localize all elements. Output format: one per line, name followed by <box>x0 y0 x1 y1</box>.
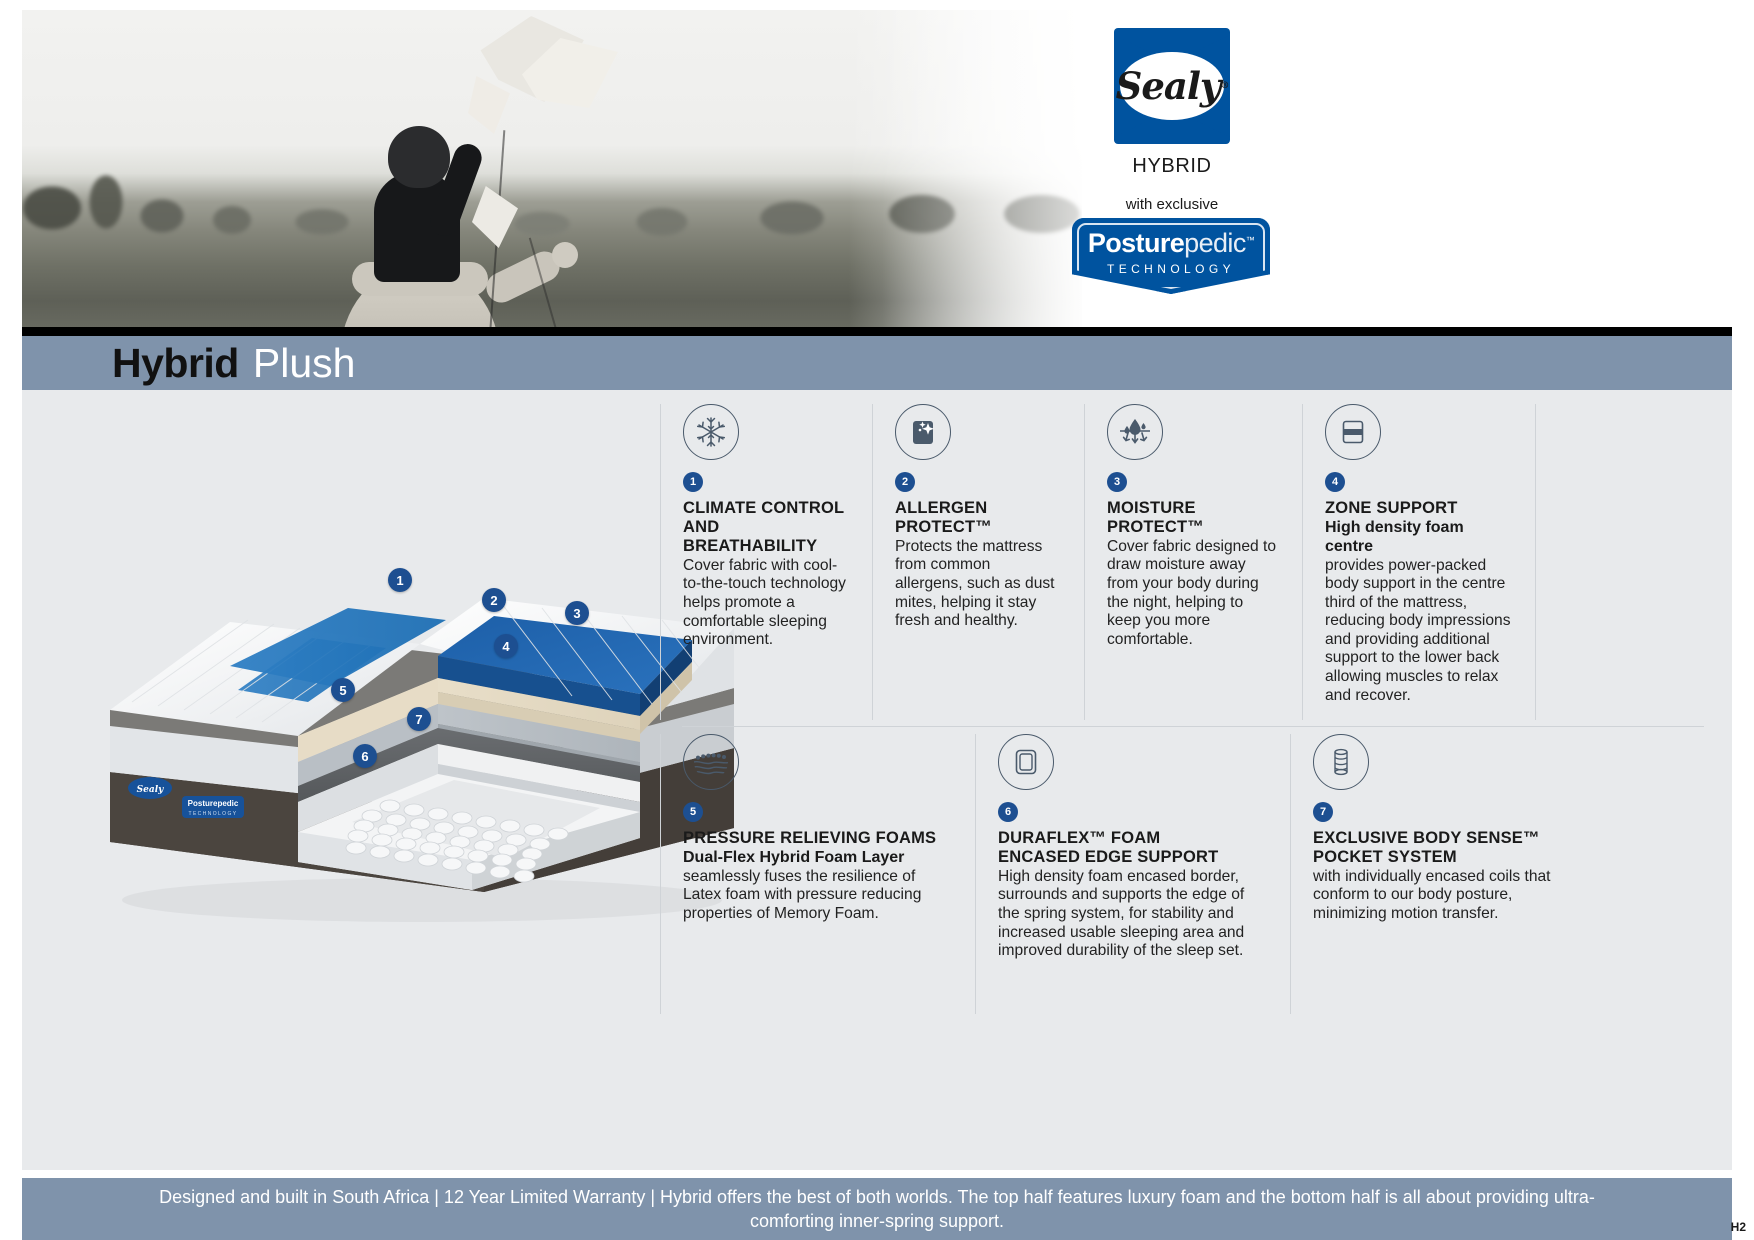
product-spec-sheet: Sealy® HYBRID with exclusive Posturepedi… <box>0 0 1754 1240</box>
feature-body-6: High density foam encased border, surrou… <box>998 868 1268 961</box>
mattress-callout-6[interactable]: 6 <box>353 744 377 768</box>
feature-row-1: 1 CLIMATE CONTROL AND BREATHABILITY Cove… <box>660 404 1536 720</box>
mattress-illustration: Sealy Posturepedic TECHNOLOGY 1 2 3 4 5 … <box>102 570 742 930</box>
feature-card-pocket-system[interactable]: 7 EXCLUSIVE BODY SENSE™ POCKET SYSTEM wi… <box>1290 734 1580 1014</box>
feature-number-7: 7 <box>1313 802 1333 822</box>
feature-title-1: CLIMATE CONTROL AND BREATHABILITY <box>683 499 850 556</box>
feature-number-1: 1 <box>683 472 703 492</box>
product-title-bar: Hybrid Plush <box>22 336 1732 390</box>
feature-body-4: provides power-packed body support in th… <box>1325 557 1513 705</box>
sealy-logo-wordmark: Sealy® <box>1114 52 1230 120</box>
feature-number-6: 6 <box>998 802 1018 822</box>
page-code: H2 <box>1731 1220 1746 1234</box>
feature-number-2: 2 <box>895 472 915 492</box>
page-title: Hybrid <box>112 340 239 387</box>
moisture-droplet-icon <box>1107 404 1163 460</box>
feature-card-duraflex-edge-support[interactable]: 6 DURAFLEX™ FOAM ENCASED EDGE SUPPORT Hi… <box>975 734 1290 1014</box>
feature-subtitle-4: High density foam centre <box>1325 519 1513 557</box>
page-subtitle: Plush <box>253 340 356 387</box>
posturepedic-technology-label: TECHNOLOGY <box>1072 262 1270 276</box>
feature-card-zone-support[interactable]: 4 ZONE SUPPORT High density foam centre … <box>1302 404 1536 720</box>
posturepedic-wordmark: Posturepedic™ <box>1072 230 1270 257</box>
feature-title-6: DURAFLEX™ FOAM ENCASED EDGE SUPPORT <box>998 829 1268 867</box>
feature-body-1: Cover fabric with cool-to-the-touch tech… <box>683 557 850 650</box>
feature-number-4: 4 <box>1325 472 1345 492</box>
footer-banner: Designed and built in South Africa | 12 … <box>22 1178 1732 1240</box>
mattress-callout-1[interactable]: 1 <box>388 568 412 592</box>
kite-icon-mid <box>468 76 510 134</box>
feature-card-moisture-protect[interactable]: 3 MOISTURE PROTECT™ Cover fabric designe… <box>1084 404 1302 720</box>
posturepedic-light-text: pedic <box>1184 228 1246 258</box>
svg-text:TECHNOLOGY: TECHNOLOGY <box>188 811 237 817</box>
feature-body-3: Cover fabric designed to draw moisture a… <box>1107 538 1280 649</box>
mattress-callout-2[interactable]: 2 <box>482 588 506 612</box>
mattress-sealy-badge: Sealy <box>128 777 172 799</box>
sealy-logo-text: Sealy <box>1116 64 1221 108</box>
feature-number-3: 3 <box>1107 472 1127 492</box>
allergen-shield-icon <box>895 404 951 460</box>
hero-banner <box>22 10 1732 365</box>
feature-body-2: Protects the mattress from common allerg… <box>895 538 1062 631</box>
feature-grid: 1 CLIMATE CONTROL AND BREATHABILITY Cove… <box>660 404 1718 1134</box>
mattress-callout-4[interactable]: 4 <box>494 634 518 658</box>
brand-sub-label: HYBRID <box>1114 155 1230 178</box>
feature-number-5: 5 <box>683 802 703 822</box>
feature-title-7: EXCLUSIVE BODY SENSE™ POCKET SYSTEM <box>1313 829 1558 867</box>
svg-text:Posturepedic: Posturepedic <box>188 799 239 808</box>
figure-child-head <box>388 126 450 188</box>
encased-edge-icon <box>998 734 1054 790</box>
snowflake-icon <box>683 404 739 460</box>
feature-subtitle-5: Dual-Flex Hybrid Foam Layer <box>683 849 953 868</box>
trademark-mark: ™ <box>1246 235 1254 245</box>
mattress-callout-3[interactable]: 3 <box>565 601 589 625</box>
sealy-logo-icon: Sealy® <box>1114 28 1230 144</box>
foam-layers-icon <box>683 734 739 790</box>
feature-card-allergen-protect[interactable]: 2 ALLERGEN PROTECT™ Protects the mattres… <box>872 404 1084 720</box>
mattress-posturepedic-badge: Posturepedic TECHNOLOGY <box>182 796 244 818</box>
feature-title-3: MOISTURE PROTECT™ <box>1107 499 1280 537</box>
feature-card-pressure-relieving-foams[interactable]: 5 PRESSURE RELIEVING FOAMS Dual-Flex Hyb… <box>660 734 975 1014</box>
feature-title-4: ZONE SUPPORT <box>1325 499 1513 518</box>
mattress-callout-7[interactable]: 7 <box>407 707 431 731</box>
feature-card-climate-control[interactable]: 1 CLIMATE CONTROL AND BREATHABILITY Cove… <box>660 404 872 720</box>
main-content-panel: Sealy Posturepedic TECHNOLOGY 1 2 3 4 5 … <box>22 390 1732 1170</box>
pocket-coil-icon <box>1313 734 1369 790</box>
feature-title-2: ALLERGEN PROTECT™ <box>895 499 1062 537</box>
mattress-cutaway-svg: Sealy Posturepedic TECHNOLOGY <box>102 570 742 930</box>
black-divider-rule <box>22 327 1732 336</box>
svg-text:Sealy: Sealy <box>137 785 164 795</box>
feature-body-5: seamlessly fuses the resilience of Latex… <box>683 868 953 924</box>
feature-row-divider <box>682 726 1704 727</box>
zone-support-icon <box>1325 404 1381 460</box>
registered-mark: ® <box>1220 81 1228 91</box>
footer-text: Designed and built in South Africa | 12 … <box>137 1185 1617 1234</box>
figure-adult-hand <box>552 242 578 268</box>
brand-block: Sealy® HYBRID <box>1114 28 1230 178</box>
posturepedic-bold-text: Posture <box>1088 228 1184 258</box>
with-exclusive-label: with exclusive <box>1108 196 1236 213</box>
feature-body-7: with individually encased coils that con… <box>1313 868 1558 924</box>
feature-row-2: 5 PRESSURE RELIEVING FOAMS Dual-Flex Hyb… <box>660 734 1580 1014</box>
mattress-callout-5[interactable]: 5 <box>331 678 355 702</box>
feature-title-5: PRESSURE RELIEVING FOAMS <box>683 829 953 848</box>
